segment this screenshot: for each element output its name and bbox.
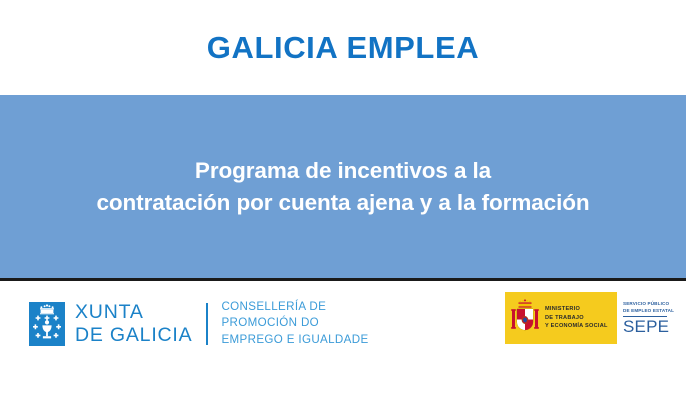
xunta-wordmark-line-1: XUNTA — [75, 301, 192, 323]
title-area: GALICIA EMPLEA — [0, 0, 686, 95]
ministerio-line-1: MINISTERIO — [545, 305, 608, 313]
ministerio-trabajo-logo: MINISTERIO DE TRABAJO Y ECONOMÍA SOCIAL — [505, 292, 617, 344]
sepe-wordmark: SEPE — [623, 318, 669, 335]
sepe-logo: SERVICIO PÚBLICO DE EMPLEO ESTATAL SEPE — [617, 292, 674, 344]
galicia-coat-of-arms-icon — [29, 302, 65, 346]
xunta-wordmark-line-2: DE GALICIA — [75, 324, 192, 346]
conselleria-line-1: CONSELLERÍA DE — [221, 299, 368, 315]
conselleria-text: CONSELLERÍA DE PROMOCIÓN DO EMPREGO E IG… — [221, 299, 368, 348]
sepe-subtitle-line-1: SERVICIO PÚBLICO — [623, 301, 674, 308]
xunta-de-galicia-logo: XUNTA DE GALICIA CONSELLERÍA DE PROMOCIÓ… — [29, 299, 369, 348]
ministerio-line-3: Y ECONOMÍA SOCIAL — [545, 322, 608, 330]
spain-coat-of-arms-icon — [510, 299, 540, 337]
government-logos: MINISTERIO DE TRABAJO Y ECONOMÍA SOCIAL … — [505, 292, 674, 344]
sepe-subtitle-line-2: DE EMPLEO ESTATAL — [623, 308, 674, 315]
banner-line-2: contratación por cuenta ajena y a la for… — [96, 187, 589, 219]
logo-divider — [206, 303, 208, 345]
conselleria-line-2: PROMOCIÓN DO — [221, 315, 368, 331]
page-title: GALICIA EMPLEA — [207, 32, 479, 63]
footer-logos: XUNTA DE GALICIA CONSELLERÍA DE PROMOCIÓ… — [0, 281, 686, 407]
sepe-subtitle: SERVICIO PÚBLICO DE EMPLEO ESTATAL — [623, 301, 674, 314]
conselleria-line-3: EMPREGO E IGUALDADE — [221, 332, 368, 348]
program-banner: Programa de incentivos a la contratación… — [0, 95, 686, 281]
banner-text: Programa de incentivos a la contratación… — [82, 155, 603, 219]
ministerio-text: MINISTERIO DE TRABAJO Y ECONOMÍA SOCIAL — [545, 305, 608, 330]
xunta-wordmark: XUNTA DE GALICIA — [75, 301, 192, 345]
banner-line-1: Programa de incentivos a la — [96, 155, 589, 187]
ministerio-line-2: DE TRABAJO — [545, 314, 608, 322]
